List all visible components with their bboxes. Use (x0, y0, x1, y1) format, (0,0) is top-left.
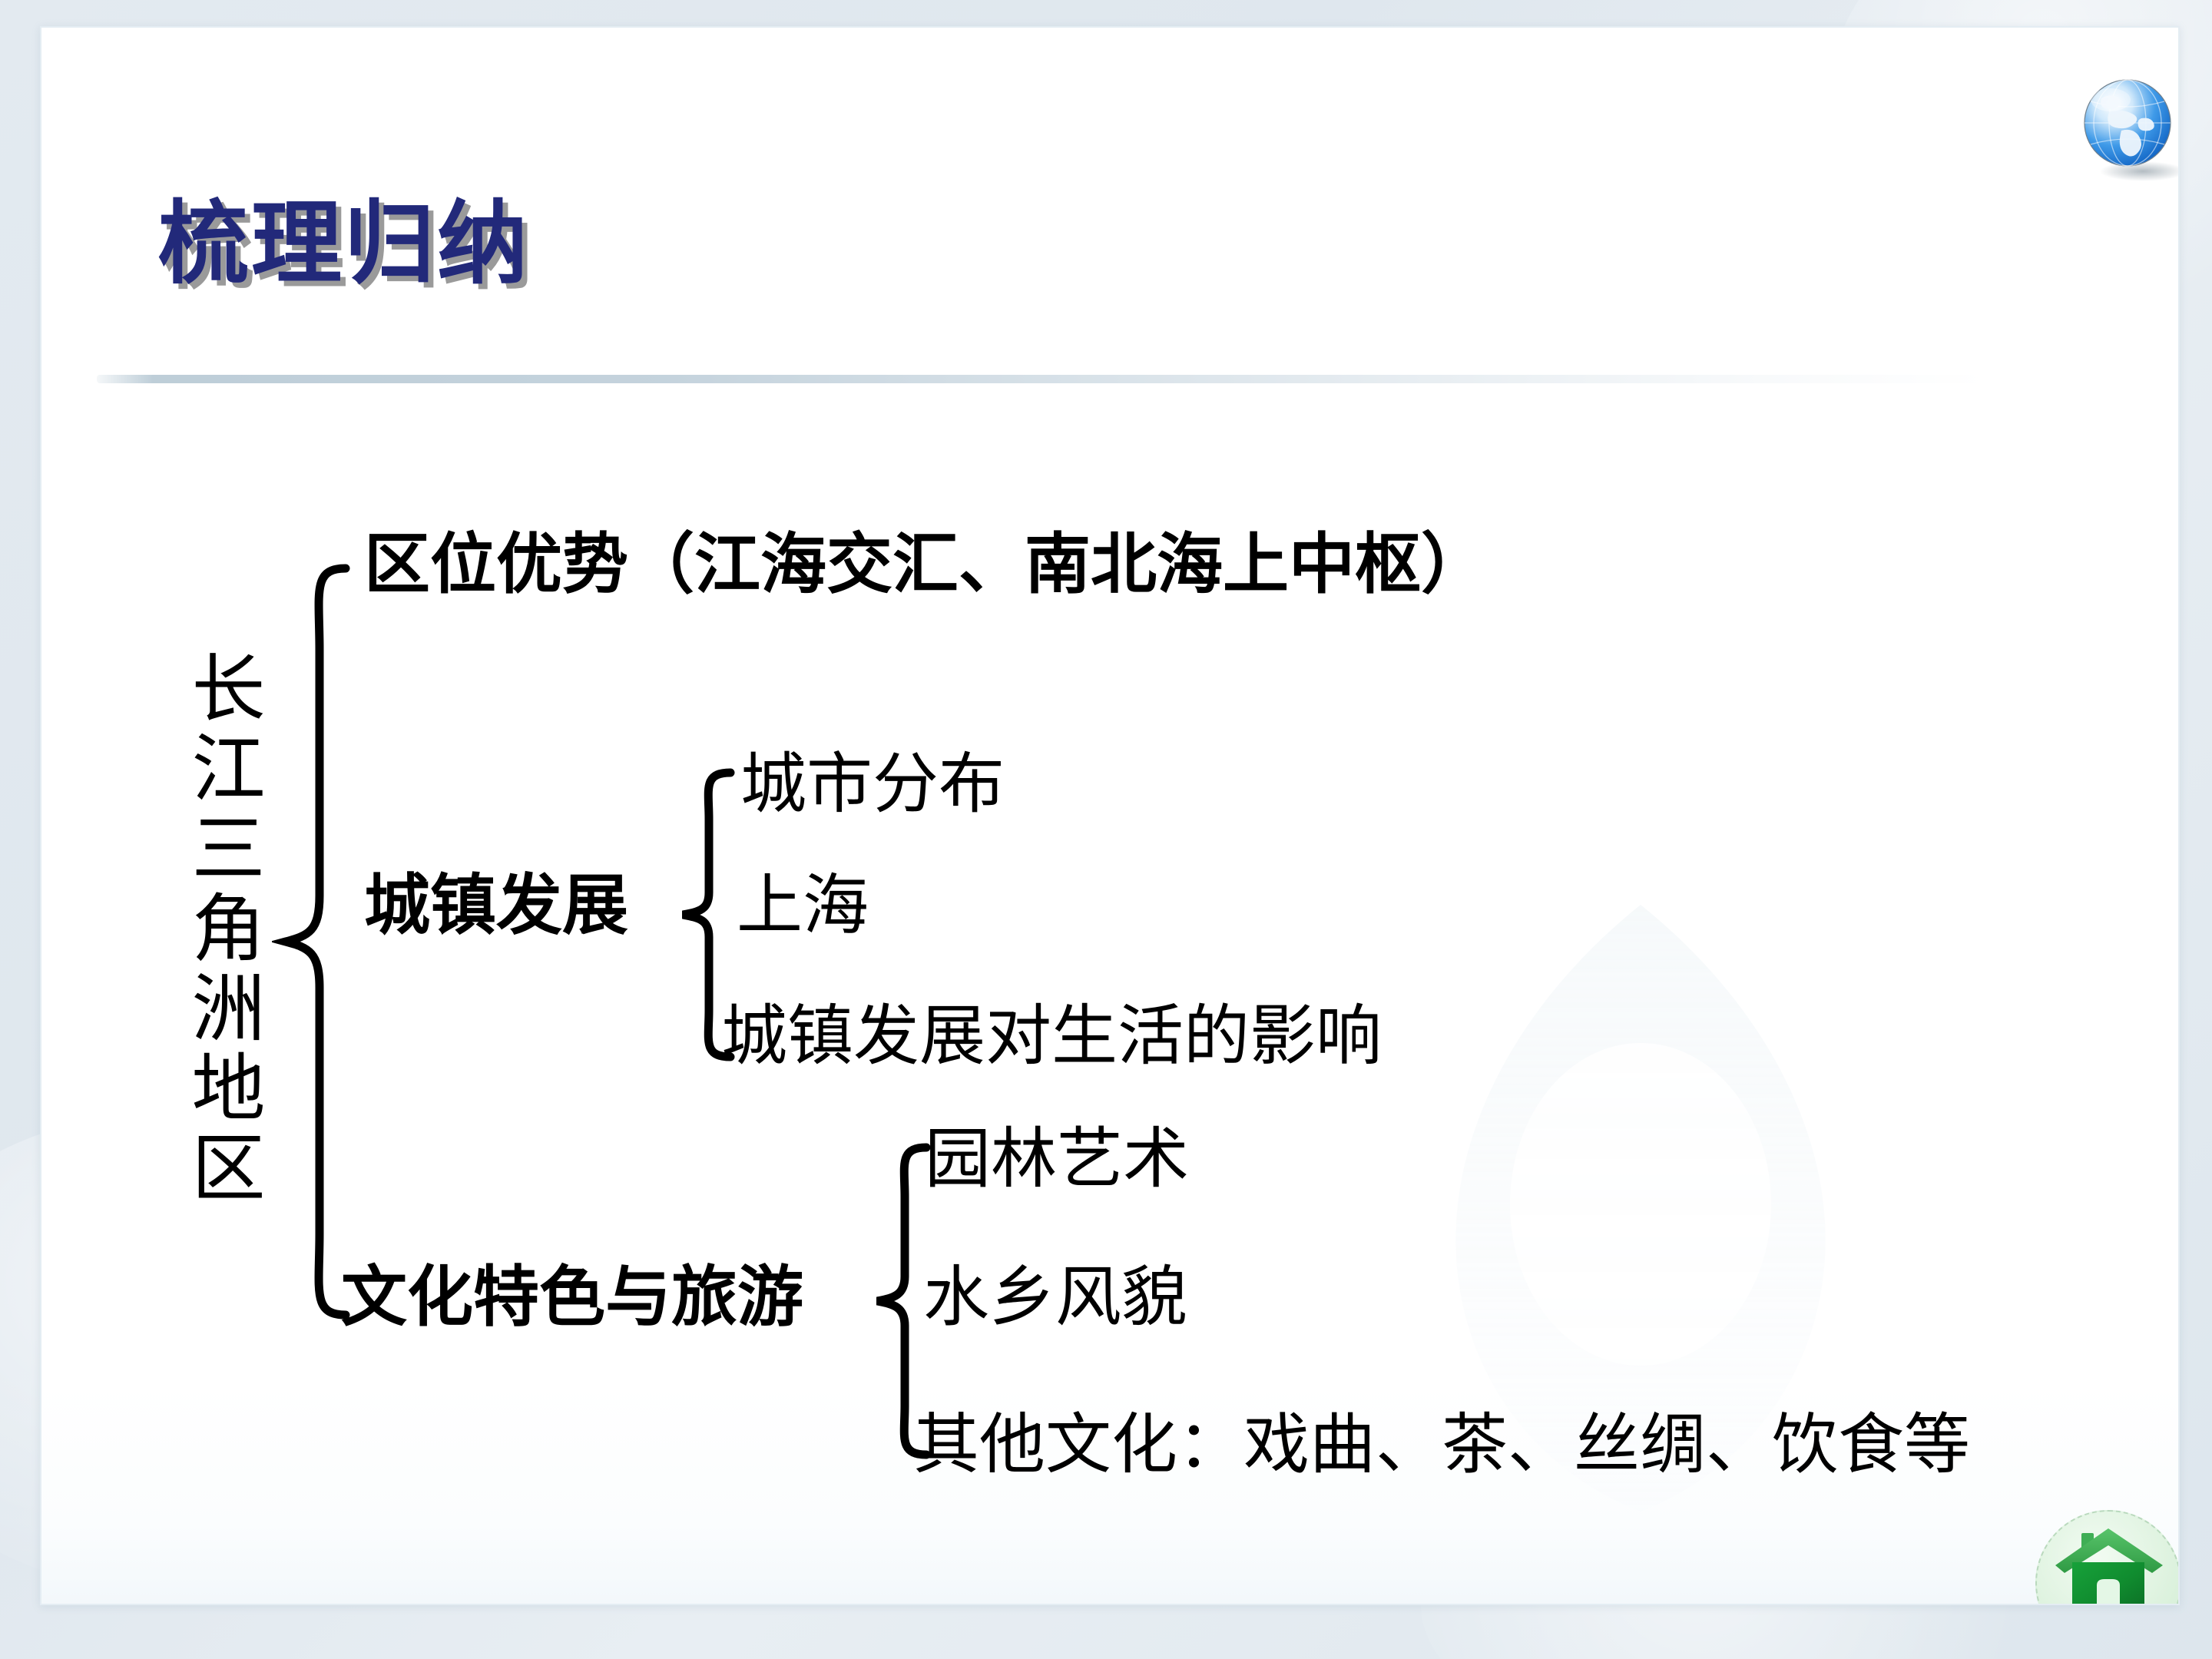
branch-label-1: 区位优势（江海交汇、南北海上中枢） (364, 530, 1487, 599)
branch-2-child-3: 城镇发展对生活的影响 (721, 1002, 1382, 1071)
slide-card: 梳理归纳 长江三角洲地区 区位优势（江海交汇、南北海上中枢） 城镇发展 城市分布… (40, 26, 2180, 1605)
home-button[interactable]: 回首页 (2035, 1510, 2180, 1605)
diagram-root-label: 长江三角洲地区 (184, 650, 258, 1209)
branch-3-child-2: 水乡风貌 (923, 1263, 1187, 1332)
branch-3-child-3: 其他文化：戏曲、茶、丝绸、饮食等 (913, 1410, 1970, 1479)
branch-label-2: 城镇发展 (364, 871, 628, 940)
branch-3-child-1: 园林艺术 (925, 1124, 1189, 1194)
branch-label-3: 文化特色与旅游 (341, 1263, 803, 1332)
branch-2-child-2: 上海 (737, 871, 869, 940)
root-brace (272, 558, 364, 1326)
branch-2-child-1: 城市分布 (740, 750, 1005, 819)
presentation-slide: 梳理归纳 长江三角洲地区 区位优势（江海交汇、南北海上中枢） 城镇发展 城市分布… (0, 0, 2212, 1659)
home-button-label: 回首页 (2035, 1604, 2180, 1605)
mind-map-diagram: 长江三角洲地区 区位优势（江海交汇、南北海上中枢） 城镇发展 城市分布 上海 城… (41, 28, 2178, 1604)
home-icon (2049, 1518, 2167, 1605)
